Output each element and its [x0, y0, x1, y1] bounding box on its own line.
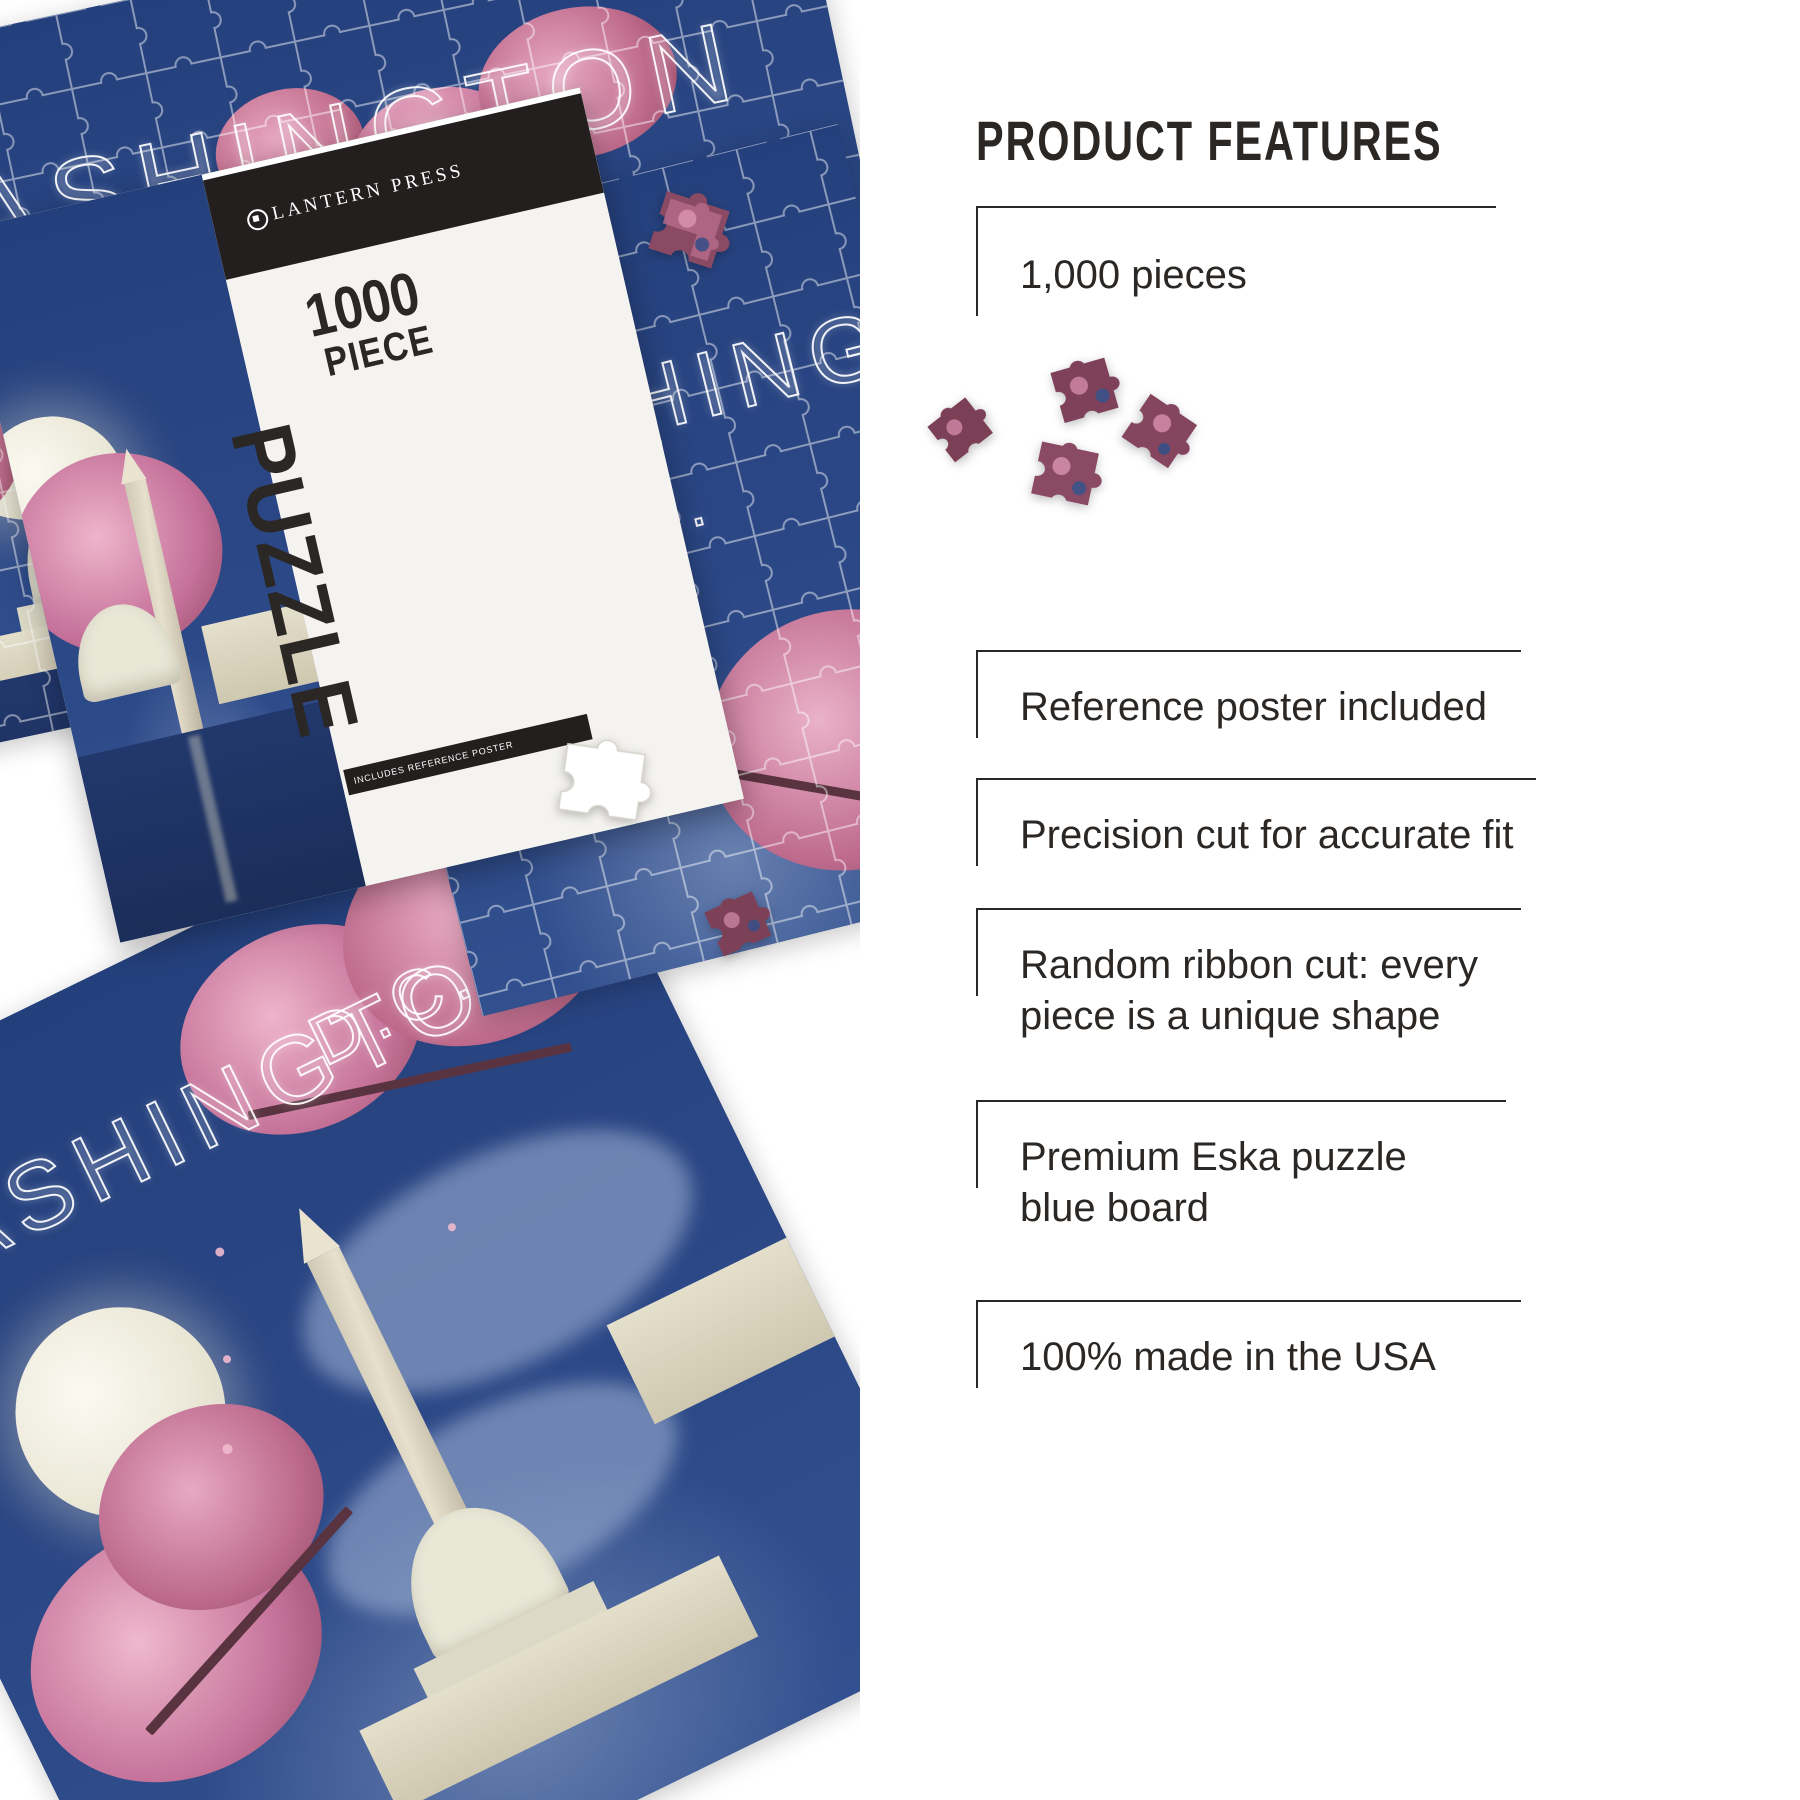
feature-rule-left — [976, 1100, 978, 1188]
feature-rule-top — [976, 1300, 1521, 1302]
feature-rule-top — [976, 778, 1536, 780]
product-feature-image: WASHINGTON D.C. — [0, 0, 1800, 1800]
feature-rule-top — [976, 650, 1521, 652]
feature-rule-top — [976, 908, 1521, 910]
feature-label: Random ribbon cut: every piece is a uniq… — [1020, 940, 1478, 1042]
feature-label: Premium Eska puzzle blue board — [1020, 1132, 1407, 1234]
feature-item: Premium Eska puzzle blue board — [976, 1100, 1506, 1300]
features-heading: PRODUCT FEATURES — [976, 108, 1443, 173]
feature-item: 100% made in the USA — [976, 1300, 1521, 1450]
feature-rule-left — [976, 206, 978, 316]
feature-rule-top — [976, 206, 1496, 208]
feature-item: Precision cut for accurate fit — [976, 778, 1536, 928]
feature-label: 1,000 pieces — [1020, 250, 1247, 301]
feature-item: Random ribbon cut: every piece is a uniq… — [976, 908, 1521, 1108]
loose-puzzle-piece — [550, 733, 671, 831]
feature-rule-left — [976, 650, 978, 738]
feature-rule-left — [976, 908, 978, 996]
feature-label: 100% made in the USA — [1020, 1332, 1436, 1383]
product-features-panel: PRODUCT FEATURES 1,000 pieces Reference … — [860, 0, 1800, 1800]
feature-rule-top — [976, 1100, 1506, 1102]
feature-item: 1,000 pieces — [976, 206, 1496, 356]
feature-rule-left — [976, 1300, 978, 1388]
feature-label: Reference poster included — [1020, 682, 1487, 733]
product-photo: WASHINGTON D.C. — [0, 0, 860, 1800]
feature-label: Precision cut for accurate fit — [1020, 810, 1514, 861]
feature-rule-left — [976, 778, 978, 866]
